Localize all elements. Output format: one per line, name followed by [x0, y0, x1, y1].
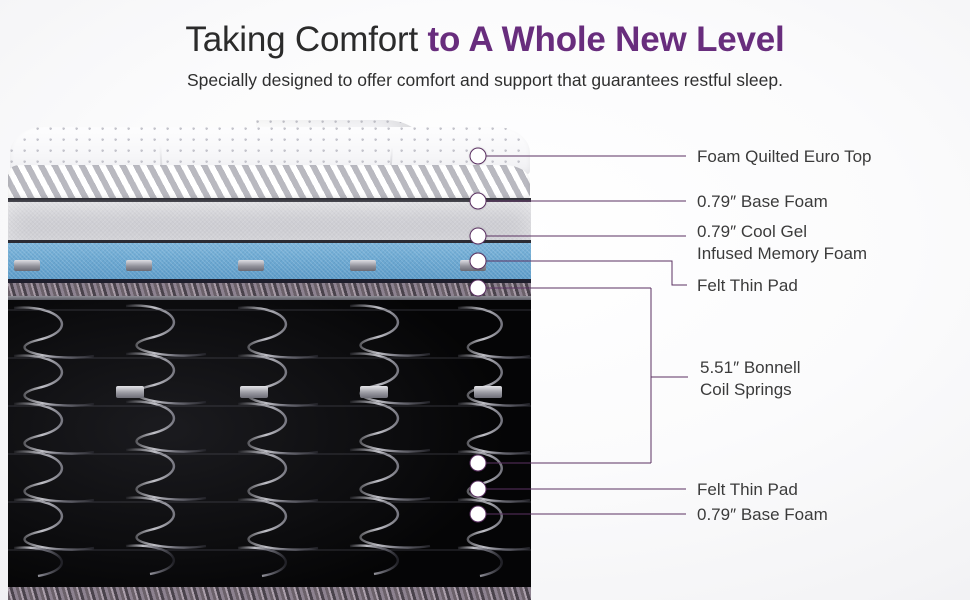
callout-label-base-foam-bottom: 0.79″ Base Foam: [697, 504, 828, 526]
mattress-illustration: [0, 110, 700, 560]
callout-label-felt-pad-bottom: Felt Thin Pad: [697, 479, 798, 501]
callout-label-euro-top: Foam Quilted Euro Top: [697, 146, 872, 168]
callout-dot-base-foam-bottom[interactable]: [470, 506, 487, 523]
layer-bonnell-coil-springs: [8, 300, 531, 587]
callout-dot-cool-gel[interactable]: [470, 228, 487, 245]
mattress-infographic: Taking Comfort to A Whole New Level Spec…: [0, 0, 970, 600]
coil-clip-row-bottom: [8, 386, 531, 398]
layer-top-gusset-stripe: [8, 165, 530, 199]
coil-clip: [126, 260, 152, 271]
callout-label-felt-pad-top: Felt Thin Pad: [697, 275, 798, 297]
page-subtitle: Specially designed to offer comfort and …: [0, 70, 970, 91]
coil-spring-drawing: [8, 300, 531, 587]
coil-clip: [360, 386, 388, 398]
callout-label-base-foam-top: 0.79″ Base Foam: [697, 191, 828, 213]
layer-felt-thin-pad-bottom: [8, 587, 531, 600]
coil-clip: [238, 260, 264, 271]
layer-felt-thin-pad-top: [8, 283, 531, 296]
callout-label-cool-gel: 0.79″ Cool Gel Infused Memory Foam: [697, 221, 867, 266]
callout-dot-felt-pad-top[interactable]: [470, 253, 487, 270]
callout-dot-coil-springs-bottom[interactable]: [470, 455, 487, 472]
callout-dot-base-foam-top[interactable]: [470, 193, 487, 210]
callout-label-coil-springs: 5.51″ Bonnell Coil Springs: [700, 357, 801, 402]
coil-clip: [116, 386, 144, 398]
page-title-emphasis: to A Whole New Level: [428, 20, 785, 59]
page-title: Taking Comfort to A Whole New Level: [0, 20, 970, 60]
coil-clip: [14, 260, 40, 271]
coil-clip: [474, 386, 502, 398]
coil-clip: [350, 260, 376, 271]
coil-clip: [240, 386, 268, 398]
callout-dot-coil-springs-top[interactable]: [470, 280, 487, 297]
callout-dot-euro-top[interactable]: [470, 148, 487, 165]
page-title-plain: Taking Comfort: [185, 20, 427, 59]
layer-base-foam-top: [8, 202, 531, 240]
callout-dot-felt-pad-bottom[interactable]: [470, 481, 487, 498]
coil-clip-row-top: [8, 260, 531, 271]
